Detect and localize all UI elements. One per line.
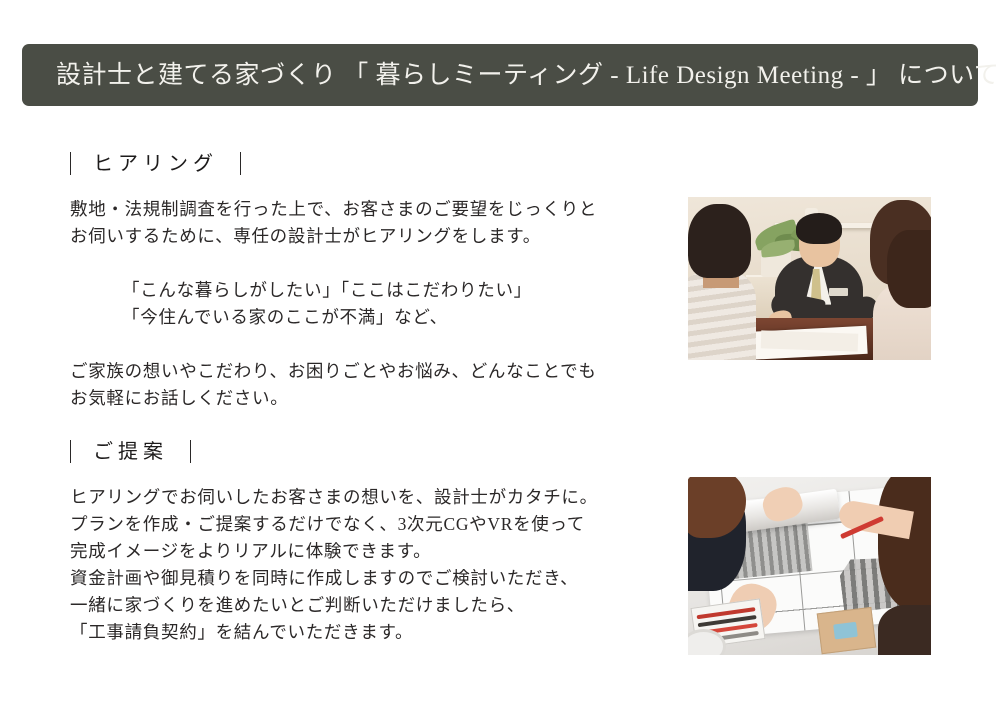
heading-rule-right-icon: [190, 440, 191, 463]
photo-staff-hair: [796, 213, 842, 244]
paragraph-spacer: [70, 250, 670, 263]
page-header-bar: 設計士と建てる家づくり 「 暮らしミーティング - Life Design Me…: [22, 44, 978, 106]
section-body-hearing: 敷地・法規制調査を行った上で、お客さまのご要望をじっくりと お伺いするために、専…: [70, 196, 670, 412]
photo-proposal-canvas: [688, 477, 931, 655]
photo-material-sample: [817, 607, 877, 655]
photo-document-sheet: [761, 331, 859, 352]
section-heading-label: ヒアリング: [71, 154, 240, 174]
quote-line: 「こんな暮らしがしたい」「ここはこだわりたい」: [70, 277, 670, 304]
photo-person-right-body: [878, 605, 931, 655]
paragraph-line: プランを作成・ご提案するだけでなく、3次元CGやVRを使って: [70, 511, 670, 538]
paragraph-line: 完成イメージをよりリアルに体験できます。: [70, 538, 670, 565]
paragraph-line: お伺いするために、専任の設計士がヒアリングをします。: [70, 223, 670, 250]
section-body-proposal: ヒアリングでお伺いしたお客さまの想いを、設計士がカタチに。 プランを作成・ご提案…: [70, 484, 670, 646]
paragraph-line: お気軽にお話しください。: [70, 385, 670, 412]
section-heading-label: ご提案: [71, 442, 190, 462]
photo-material-sample-tile: [833, 622, 858, 640]
photo-proposal-blueprints: [688, 477, 931, 655]
paragraph-line: 敷地・法規制調査を行った上で、お客さまのご要望をじっくりと: [70, 196, 670, 223]
photo-staff-name-badge: [829, 288, 848, 296]
paragraph-line: 資金計画や御見積りを同時に作成しますのでご検討いただき、: [70, 565, 670, 592]
photo-customer-left-head: [688, 204, 751, 279]
photo-person-right-hair: [878, 477, 931, 609]
photo-customer-right-hair: [887, 230, 931, 308]
quote-line: 「今住んでいる家のここが不満」など、: [70, 304, 670, 331]
paragraph-spacer: [70, 345, 670, 358]
page-title: 設計士と建てる家づくり 「 暮らしミーティング - Life Design Me…: [22, 63, 999, 88]
heading-rule-right-icon: [240, 152, 241, 175]
paragraph-line: ヒアリングでお伺いしたお客さまの想いを、設計士がカタチに。: [70, 484, 670, 511]
photo-hearing-canvas: [688, 197, 931, 360]
paragraph-line: 「工事請負契約」を結んでいただきます。: [70, 619, 670, 646]
paragraph-line: ご家族の想いやこだわり、お困りごとやお悩み、どんなことでも: [70, 358, 670, 385]
photo-hearing-consultation: [688, 197, 931, 360]
section-heading-proposal: ご提案: [70, 440, 191, 463]
section-heading-hearing: ヒアリング: [70, 152, 241, 175]
paragraph-line: 一緒に家づくりを進めたいとご判断いただけましたら、: [70, 592, 670, 619]
